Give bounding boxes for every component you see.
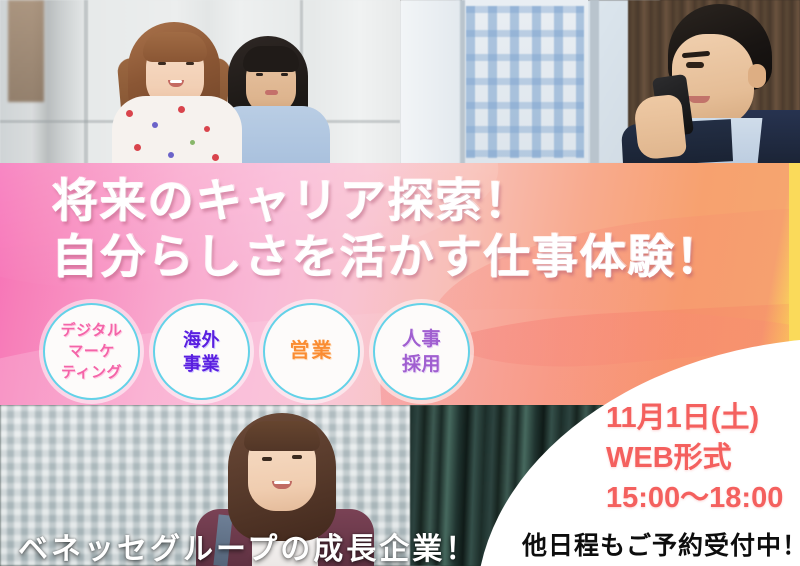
badge-overseas-business[interactable]: 海外 事業 [153, 303, 250, 400]
woman-two-bangs [243, 46, 299, 72]
event-format: WEB形式 [606, 438, 783, 478]
event-date: 11月1日(土) [606, 398, 783, 438]
photo-businessman-phone [400, 0, 800, 164]
badge-text-line: 事業 [183, 352, 220, 376]
wall-seam [84, 0, 88, 164]
headline: 将来のキャリア探索！ 自分らしさを活かす仕事体験！ [52, 173, 724, 285]
event-time: 15:00〜18:00 [606, 478, 783, 518]
reservation-note: 他日程もご予約受付中！ [522, 526, 800, 562]
woman-one-floral-blouse [112, 96, 242, 164]
badge-text-line: ティング [61, 362, 122, 383]
woman-eye [292, 455, 302, 459]
tagline: ベネッセグループの成長企業！ [18, 524, 478, 566]
badge-text-line: 海外 [183, 328, 220, 352]
woman-eye [262, 457, 272, 461]
badge-text-line: 人事 [402, 327, 441, 352]
recruitment-banner: 将来のキャリア探索！ 自分らしさを活かす仕事体験！ デジタル マーケ ティング … [0, 0, 800, 566]
badge-sales[interactable]: 営業 [263, 303, 360, 400]
woman-two-smile [265, 90, 278, 95]
headline-line-1: 将来のキャリア探索！ [52, 173, 724, 229]
badge-text-line: 採用 [402, 352, 441, 377]
badge-digital-marketing[interactable]: デジタル マーケ ティング [43, 303, 140, 400]
man-mouth [688, 96, 710, 103]
badge-text-line: 営業 [290, 341, 334, 362]
woman-one-eye [158, 62, 166, 65]
window-frame [400, 0, 460, 164]
photo-two-women [0, 0, 400, 164]
man-ear [748, 64, 766, 88]
event-details: 11月1日(土) WEB形式 15:00〜18:00 [606, 398, 783, 518]
category-badge-group: デジタル マーケ ティング 海外 事業 営業 人事 採用 [43, 303, 470, 400]
woman-one-eye [186, 62, 194, 65]
window-mullion [590, 0, 599, 164]
woman-two-eye [256, 73, 263, 76]
woman-one-bangs [143, 32, 207, 62]
badge-text-line: デジタル [61, 320, 123, 341]
woman-two-eye [281, 73, 288, 76]
top-photo-row [0, 0, 800, 164]
man-eye [686, 62, 704, 68]
badge-text-line: マーケ [68, 341, 115, 362]
headline-line-2: 自分らしさを活かす仕事体験！ [52, 229, 724, 285]
woman-bangs [244, 421, 320, 451]
badge-hr-recruiting[interactable]: 人事 採用 [373, 303, 470, 400]
man-hand [633, 94, 687, 161]
tower-window-grid [466, 6, 584, 158]
